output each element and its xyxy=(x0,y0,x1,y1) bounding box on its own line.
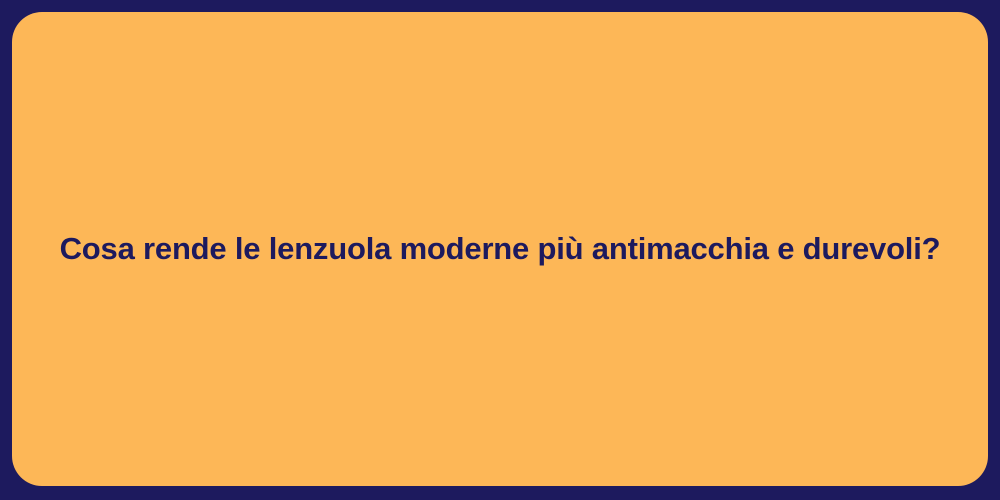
banner-panel: Cosa rende le lenzuola moderne più antim… xyxy=(12,12,988,486)
banner-frame: Cosa rende le lenzuola moderne più antim… xyxy=(0,0,1000,500)
headline-question: Cosa rende le lenzuola moderne più antim… xyxy=(60,230,941,269)
